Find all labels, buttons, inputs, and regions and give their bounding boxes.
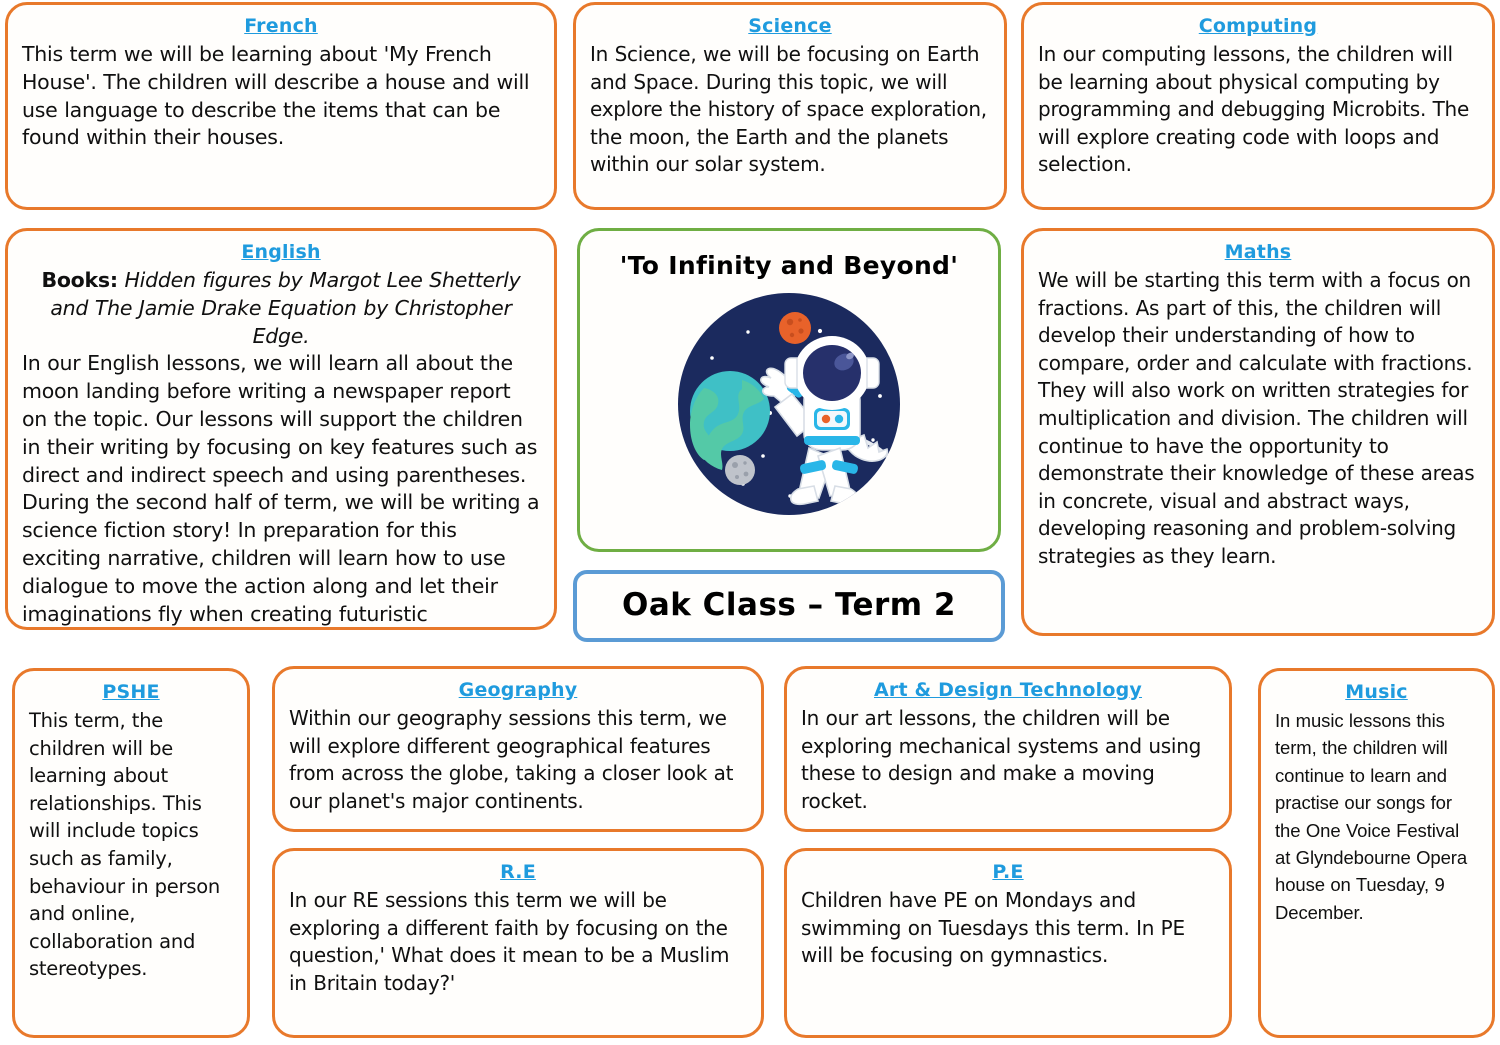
subject-body-english: In our English lessons, we will learn al… [22,350,540,630]
subject-title-music: Music [1275,679,1478,705]
topic-title: 'To Infinity and Beyond' [594,251,984,280]
subject-body-re: In our RE sessions this term we will be … [289,887,747,997]
illustration-container [594,288,984,520]
subject-card-french: French This term we will be learning abo… [5,2,557,210]
astronaut-in-space-illustration [664,288,914,520]
subject-body-art-design-technology: In our art lessons, the children will be… [801,705,1215,815]
subject-title-computing: Computing [1038,13,1478,39]
subject-card-art-design-technology: Art & Design Technology In our art lesso… [784,666,1232,832]
subject-card-science: Science In Science, we will be focusing … [573,2,1007,210]
topic-card: 'To Infinity and Beyond' [577,228,1001,552]
subject-title-english: English [22,239,540,265]
subject-title-art-design-technology: Art & Design Technology [801,677,1215,703]
subject-title-pshe: PSHE [29,679,233,705]
subject-title-science: Science [590,13,990,39]
subject-title-geography: Geography [289,677,747,703]
subject-body-science: In Science, we will be focusing on Earth… [590,41,990,179]
subject-body-computing: In our computing lessons, the children w… [1038,41,1478,179]
subject-body-pshe: This term, the children will be learning… [29,707,233,983]
class-term-title: Oak Class – Term 2 [622,587,956,623]
subject-title-pe: P.E [801,859,1215,885]
subject-card-pe: P.E Children have PE on Mondays and swim… [784,848,1232,1038]
subject-card-pshe: PSHE This term, the children will be lea… [12,668,250,1038]
subject-card-computing: Computing In our computing lessons, the … [1021,2,1495,210]
english-books-line: Books: Hidden figures by Margot Lee Shet… [22,267,540,350]
subject-title-french: French [22,13,540,39]
subject-card-music: Music In music lessons this term, the ch… [1258,668,1495,1038]
subject-body-maths: We will be starting this term with a foc… [1038,267,1478,571]
subject-body-french: This term we will be learning about 'My … [22,41,540,152]
subject-body-geography: Within our geography sessions this term,… [289,705,747,815]
english-books-label: Books: [41,268,117,292]
class-term-card: Oak Class – Term 2 [573,570,1005,642]
curriculum-overview-page: French This term we will be learning abo… [0,0,1500,1045]
english-book-two: The Jamie Drake Equation by Christopher … [95,296,512,348]
subject-card-english: English Books: Hidden figures by Margot … [5,228,557,630]
subject-card-re: R.E In our RE sessions this term we will… [272,848,764,1038]
subject-card-maths: Maths We will be starting this term with… [1021,228,1495,636]
subject-body-pe: Children have PE on Mondays and swimming… [801,887,1215,970]
subject-title-re: R.E [289,859,747,885]
subject-title-maths: Maths [1038,239,1478,265]
subject-body-music: In music lessons this term, the children… [1275,707,1478,926]
subject-card-geography: Geography Within our geography sessions … [272,666,764,832]
